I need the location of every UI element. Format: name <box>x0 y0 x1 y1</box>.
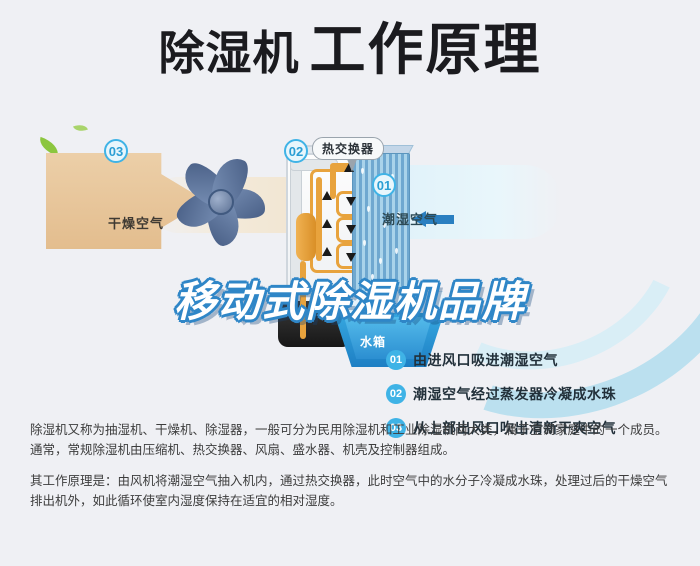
paragraph-1-line-1: 除湿机又称为抽湿机、干燥机、除湿器，一般可分为民用除湿机和工业除湿机两大类，属于… <box>30 420 675 440</box>
fan-icon <box>178 155 274 247</box>
legend-text-02: 潮湿空气经过蒸发器冷凝成水珠 <box>413 384 616 404</box>
flow-arrow-up <box>322 191 332 200</box>
flow-arrow-up <box>322 247 332 256</box>
paragraph-2-line-2: 排出机外，如此循环使室内湿度保持在适宜的相对湿度。 <box>30 491 675 511</box>
legend-badge-02: 02 <box>386 384 406 404</box>
compressor-cylinder <box>296 213 316 261</box>
flow-arrow-down <box>346 225 356 234</box>
heat-exchanger-callout: 热交换器 <box>312 137 384 160</box>
legend-text-01: 由进风口吸进潮湿空气 <box>413 350 558 370</box>
list-item: 01 由进风口吸进潮湿空气 <box>386 350 686 370</box>
page-title: 除湿机 工作原理 <box>0 22 700 78</box>
diagram-badge-03: 03 <box>104 139 128 163</box>
legend-badge-01: 01 <box>386 350 406 370</box>
leaf-icon <box>73 122 88 134</box>
drain-pipe <box>300 261 306 339</box>
dry-air-label: 干燥空气 <box>108 213 164 232</box>
diagram-badge-01: 01 <box>372 173 396 197</box>
title-part-two: 工作原理 <box>310 22 542 78</box>
paragraph-1-line-2: 通常，常规除湿机由压缩机、热交换器、风扇、盛水器、机壳及控制器组成。 <box>30 440 675 460</box>
description-text: 除湿机又称为抽湿机、干燥机、除湿器，一般可分为民用除湿机和工业除湿机两大类，属于… <box>30 420 675 511</box>
water-tank-label: 水箱 <box>360 333 386 350</box>
humid-air-label: 潮湿空气 <box>382 209 438 228</box>
flow-arrow-down <box>346 197 356 206</box>
flow-arrow-up <box>322 219 332 228</box>
list-item: 02 潮湿空气经过蒸发器冷凝成水珠 <box>386 384 686 404</box>
title-part-one: 除湿机 <box>159 30 300 76</box>
flow-arrow-down <box>346 253 356 262</box>
diagram-badge-02: 02 <box>284 139 308 163</box>
dehumidifier-diagram: 水箱 干燥空气 潮湿空气 03 02 01 热交换器 01 由进风口吸进潮湿空气… <box>0 105 700 405</box>
paragraph-2-line-1: 其工作原理是：由风机将潮湿空气抽入机内，通过热交换器，此时空气中的水分子冷凝成水… <box>30 471 675 491</box>
